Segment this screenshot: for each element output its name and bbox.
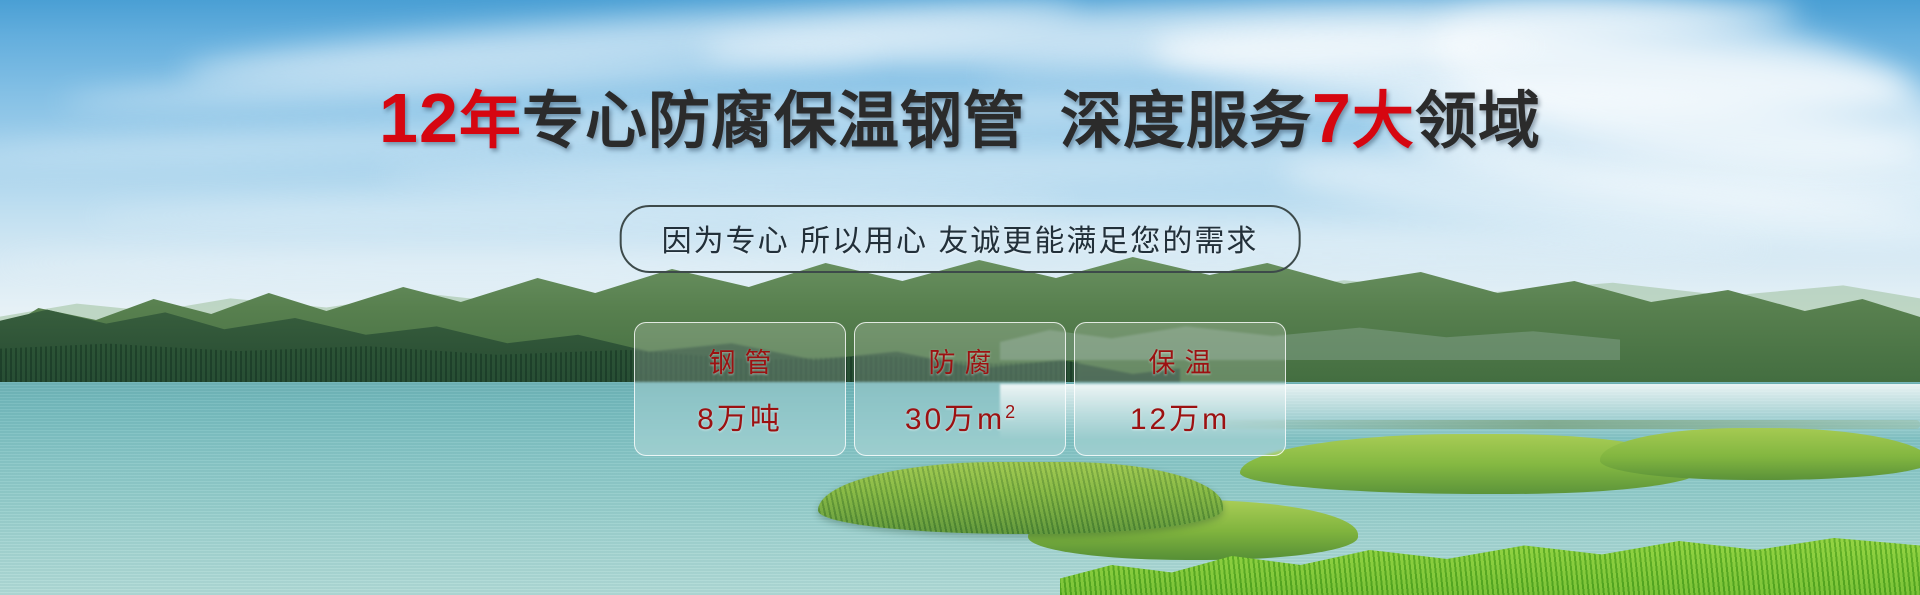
- marsh-patch: [1600, 428, 1920, 480]
- stat-card-anticorrosion[interactable]: 防腐 30万m2: [854, 322, 1066, 456]
- stat-card-steel-pipe[interactable]: 钢管 8万吨: [634, 322, 846, 456]
- headline-years-unit: 年: [459, 87, 522, 156]
- stat-card-label: 防腐: [920, 341, 1001, 380]
- subtitle-pill: 因为专心 所以用心 友诚更能满足您的需求: [620, 205, 1301, 273]
- stat-card-label: 钢管: [700, 341, 781, 380]
- stat-card-value-text: 30万m: [905, 403, 1005, 436]
- stat-card-value-sup: 2: [1005, 402, 1015, 422]
- headline-service-segment: 深度服务: [1060, 87, 1312, 156]
- stat-card-insulation[interactable]: 保温 12万m: [1074, 322, 1286, 456]
- headline-tail-segment: 领域: [1415, 87, 1541, 156]
- headline-years-number: 12: [379, 79, 459, 157]
- stat-card-value: 8万吨: [697, 394, 783, 438]
- stat-card-value-text: 8万吨: [697, 403, 783, 436]
- stat-card-value-text: 12万m: [1130, 403, 1230, 436]
- stat-cards: 钢管 8万吨 防腐 30万m2 保温 12万m: [634, 322, 1286, 456]
- headline-highlight-unit: 大: [1352, 87, 1415, 156]
- headline-highlight-number: 7: [1312, 79, 1352, 157]
- headline: 12年专心防腐保温钢管深度服务7大领域: [0, 82, 1920, 156]
- stat-card-label: 保温: [1140, 341, 1221, 380]
- far-shoreline: [1180, 420, 1920, 429]
- stat-card-value: 12万m: [1130, 394, 1230, 438]
- hero-banner: 12年专心防腐保温钢管深度服务7大领域 因为专心 所以用心 友诚更能满足您的需求…: [0, 0, 1920, 595]
- stat-card-value: 30万m2: [905, 394, 1015, 438]
- headline-main-segment: 专心防腐保温钢管: [522, 87, 1026, 156]
